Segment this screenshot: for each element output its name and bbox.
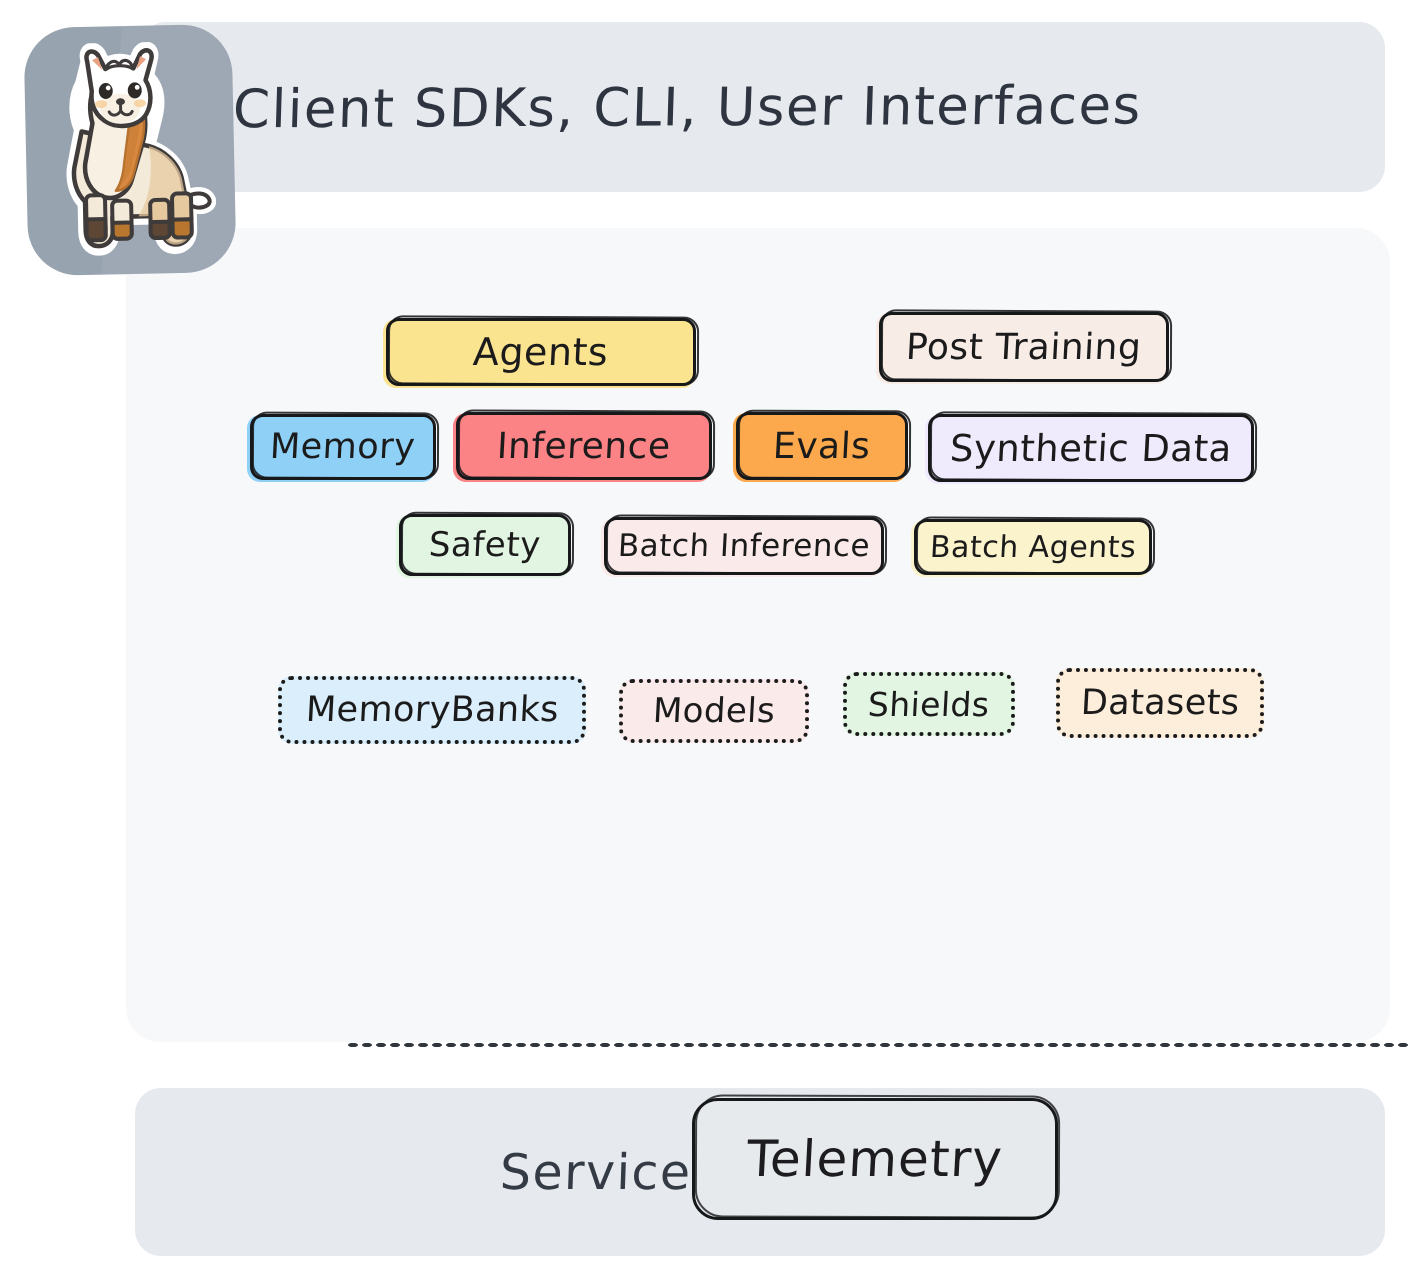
api-box-synthetic-data[interactable]: Synthetic Data	[928, 414, 1254, 482]
dotted-divider	[346, 1042, 1410, 1048]
header-band: Client SDKs, CLI, User Interfaces	[140, 22, 1385, 192]
api-box-label: Post Training	[905, 327, 1142, 368]
api-box-label: Batch Agents	[929, 530, 1137, 565]
api-box-label: Evals	[772, 426, 872, 467]
api-box-label: Safety	[428, 525, 542, 565]
api-box-label: Synthetic Data	[949, 427, 1233, 470]
main-panel: AgentsPost TrainingMemoryInferenceEvalsS…	[126, 228, 1390, 1042]
header-title: Client SDKs, CLI, User Interfaces	[232, 74, 1293, 140]
resource-box-label: MemoryBanks	[304, 690, 559, 730]
resource-box-label: Shields	[867, 685, 990, 724]
resource-box-memorybanks[interactable]: MemoryBanks	[278, 676, 586, 744]
api-box-label: Memory	[269, 427, 416, 467]
api-box-inference[interactable]: Inference	[456, 412, 712, 480]
api-box-post-training[interactable]: Post Training	[879, 312, 1169, 382]
api-box-evals[interactable]: Evals	[736, 412, 908, 480]
resource-box-shields[interactable]: Shields	[843, 672, 1015, 736]
telemetry-label: Telemetry	[746, 1130, 1005, 1188]
llama-logo	[23, 24, 236, 276]
resource-box-datasets[interactable]: Datasets	[1056, 668, 1264, 738]
api-box-label: Inference	[496, 426, 672, 467]
resource-box-label: Models	[652, 691, 776, 731]
api-box-batch-inference[interactable]: Batch Inference	[604, 517, 884, 575]
diagram-canvas: Client SDKs, CLI, User Interfaces	[0, 0, 1410, 1268]
api-box-label: Batch Inference	[617, 528, 871, 564]
api-box-batch-agents[interactable]: Batch Agents	[914, 519, 1152, 575]
api-box-safety[interactable]: Safety	[399, 514, 571, 576]
llama-icon	[43, 41, 217, 260]
api-box-agents[interactable]: Agents	[386, 318, 696, 386]
api-box-label: Agents	[472, 330, 610, 374]
telemetry-box[interactable]: Telemetry	[692, 1098, 1058, 1220]
resource-box-label: Datasets	[1080, 683, 1241, 723]
api-box-memory[interactable]: Memory	[250, 414, 436, 480]
resource-box-models[interactable]: Models	[619, 679, 809, 743]
